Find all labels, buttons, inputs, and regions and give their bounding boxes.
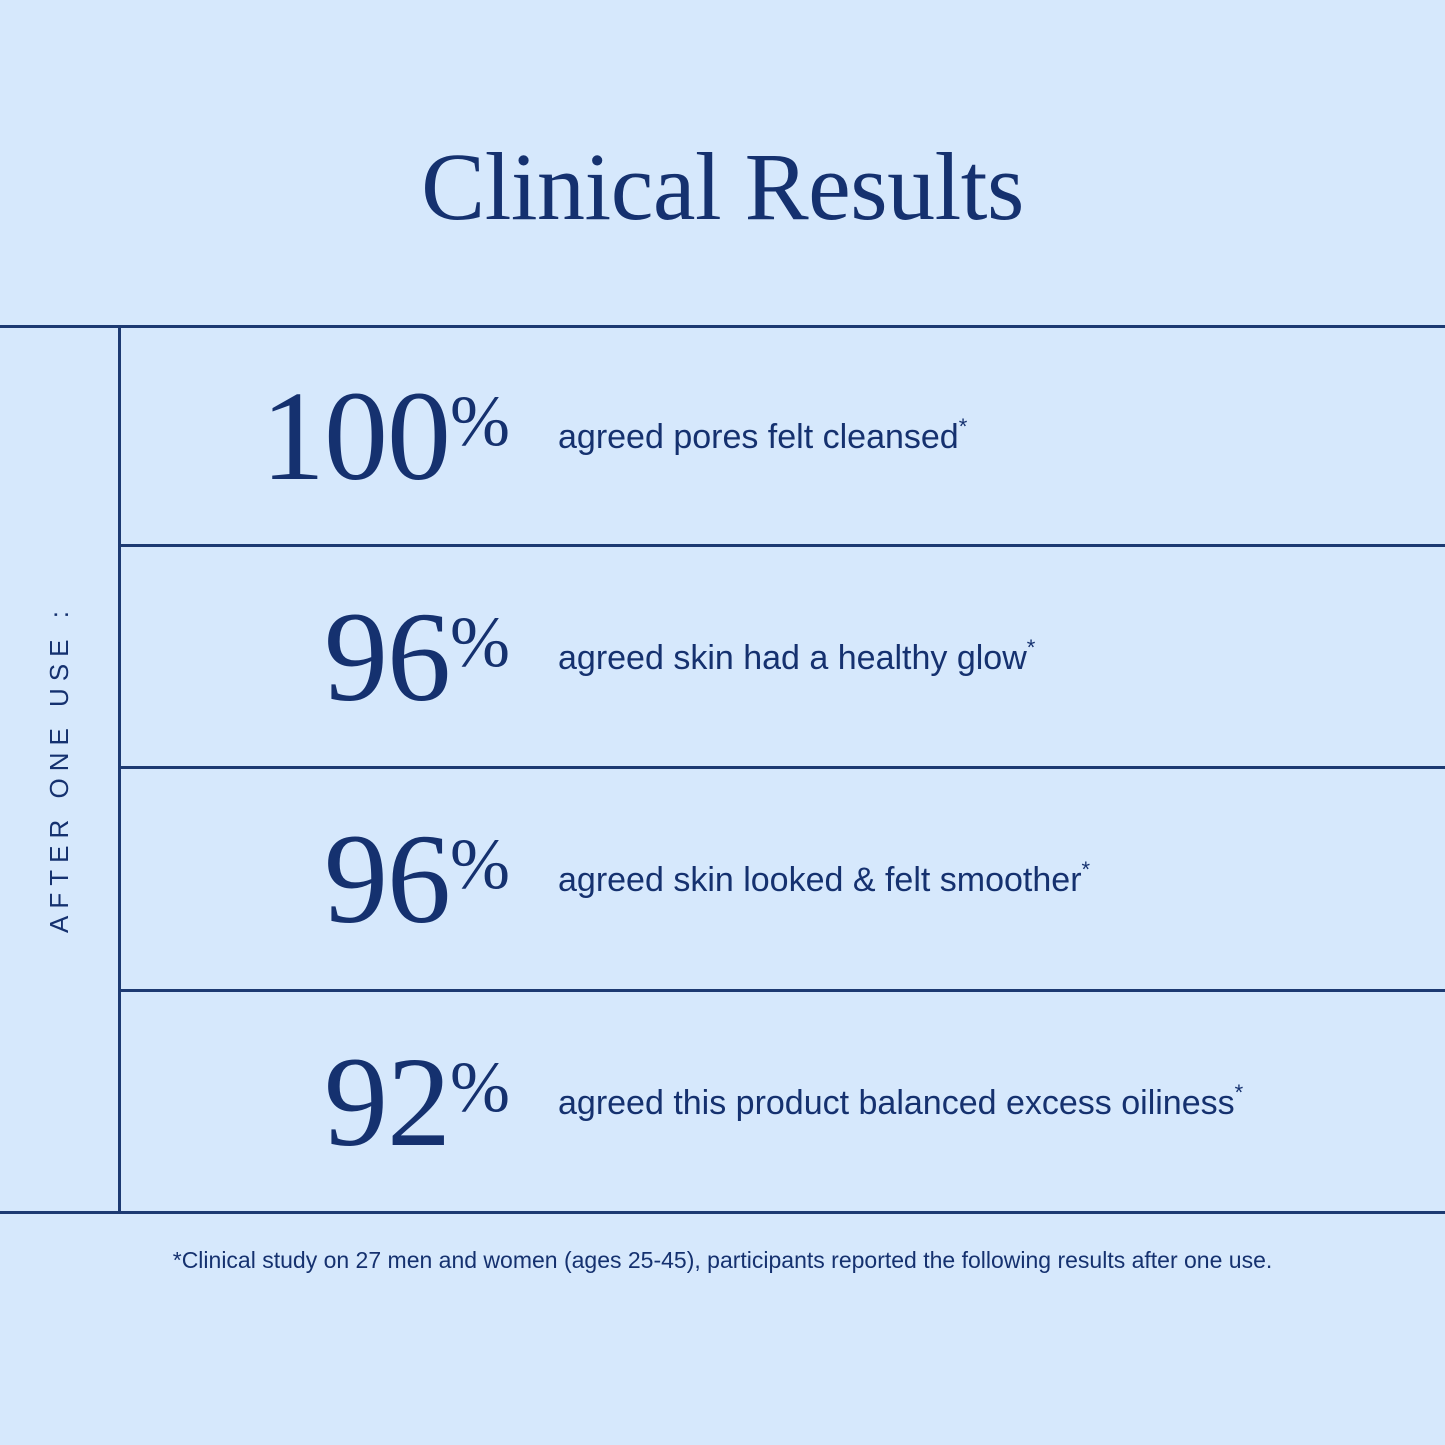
clinical-results-card: Clinical Results AFTER ONE USE : 100% ag… [0, 0, 1445, 1445]
percent-symbol: % [450, 381, 510, 461]
result-description: agreed pores felt cleansed [558, 418, 959, 456]
result-percentage: 100% [118, 372, 510, 500]
result-row: 100% agreed pores felt cleansed* [118, 328, 1445, 544]
percent-symbol: % [450, 1047, 510, 1127]
footnote-marker: * [959, 414, 968, 439]
result-percentage: 92% [118, 1038, 510, 1166]
after-one-use-label: AFTER ONE USE : [44, 604, 75, 933]
result-percentage: 96% [118, 593, 510, 721]
table-bottom-rule [0, 1211, 1445, 1214]
footnote-marker: * [1027, 635, 1036, 660]
result-value: 96 [324, 808, 450, 950]
page-title: Clinical Results [0, 139, 1445, 235]
result-description: agreed this product balanced excess oili… [558, 1084, 1235, 1122]
side-label-container: AFTER ONE USE : [0, 325, 118, 1211]
footnote-marker: * [1235, 1080, 1244, 1105]
result-percentage: 96% [118, 815, 510, 943]
result-description-container: agreed skin looked & felt smoother* [510, 857, 1445, 901]
footnote-marker: * [1082, 857, 1091, 882]
result-description-container: agreed this product balanced excess oili… [510, 1080, 1445, 1124]
result-row: 96% agreed skin had a healthy glow* [118, 547, 1445, 766]
result-row: 96% agreed skin looked & felt smoother* [118, 769, 1445, 989]
result-description-container: agreed pores felt cleansed* [510, 414, 1445, 458]
percent-symbol: % [450, 824, 510, 904]
result-value: 92 [324, 1031, 450, 1173]
result-description: agreed skin had a healthy glow [558, 639, 1027, 677]
result-value: 96 [324, 586, 450, 728]
result-description: agreed skin looked & felt smoother [558, 861, 1082, 899]
result-description-container: agreed skin had a healthy glow* [510, 635, 1445, 679]
study-footnote: *Clinical study on 27 men and women (age… [0, 1246, 1445, 1276]
result-row: 92% agreed this product balanced excess … [118, 992, 1445, 1211]
percent-symbol: % [450, 602, 510, 682]
result-value: 100 [261, 365, 450, 507]
